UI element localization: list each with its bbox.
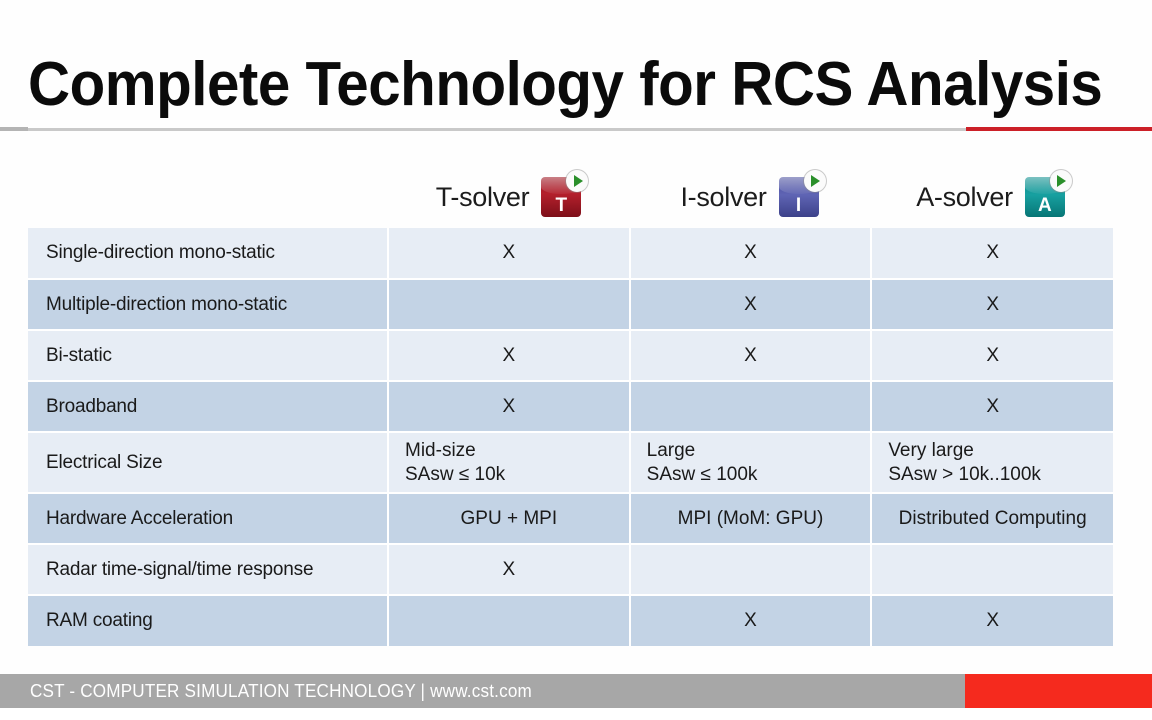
cell-i-solver: X [630, 279, 872, 330]
cell-t-solver: X [388, 330, 630, 381]
table-row: Single-direction mono-static X X X [28, 228, 1113, 279]
cell-line-1: Very large [888, 439, 1113, 463]
footer-bottom-margin [0, 708, 1152, 720]
cell-a-solver: X [871, 330, 1113, 381]
footer-text: CST - COMPUTER SIMULATION TECHNOLOGY | w… [30, 681, 532, 702]
cell-a-solver: Very large SAsw > 10k..100k [871, 432, 1113, 493]
play-triangle-icon [574, 175, 583, 187]
rule-segment-gray [28, 128, 966, 131]
cell-t-solver: X [388, 228, 630, 279]
cell-line-2: SAsw ≤ 10k [405, 463, 629, 487]
cell-t-solver: X [388, 544, 630, 595]
icon-letter: A [1025, 196, 1065, 216]
table-row: Radar time-signal/time response X [28, 544, 1113, 595]
table-row: Bi-static X X X [28, 330, 1113, 381]
cell-t-solver [388, 595, 630, 646]
cell-a-solver: X [871, 595, 1113, 646]
cell-t-solver: Mid-size SAsw ≤ 10k [388, 432, 630, 493]
solver-column-headers: T-solver T I-solver I A-solver A [28, 168, 1113, 226]
table-row: Multiple-direction mono-static X X [28, 279, 1113, 330]
title-underline-rule [0, 127, 1152, 131]
icon-letter: I [779, 196, 819, 216]
cell-i-solver: X [630, 228, 872, 279]
header-spacer [28, 168, 388, 226]
column-header-t-solver: T-solver T [388, 168, 629, 226]
cell-line-2: SAsw > 10k..100k [888, 463, 1113, 487]
t-solver-icon: T [541, 177, 581, 217]
column-header-a-solver: A-solver A [870, 168, 1111, 226]
solver-comparison-table: Single-direction mono-static X X X Multi… [28, 228, 1113, 646]
cell-i-solver: MPI (MoM: GPU) [630, 493, 872, 544]
table-row: Broadband X X [28, 381, 1113, 432]
cell-line-1: Large [647, 439, 871, 463]
rule-segment-gray-left [0, 127, 28, 131]
play-icon [566, 170, 588, 192]
cell-i-solver: X [630, 595, 872, 646]
footer-accent-block [965, 674, 1152, 708]
rule-segment-red [966, 127, 1152, 131]
slide-root: Complete Technology for RCS Analysis T-s… [0, 0, 1152, 720]
title-area: Complete Technology for RCS Analysis [28, 46, 1152, 126]
column-header-i-solver: I-solver I [629, 168, 870, 226]
play-icon [804, 170, 826, 192]
row-label: Bi-static [28, 330, 388, 381]
column-header-label: I-solver [680, 182, 766, 213]
row-label: Broadband [28, 381, 388, 432]
page-title: Complete Technology for RCS Analysis [28, 46, 1085, 124]
table-row: Hardware Acceleration GPU + MPI MPI (MoM… [28, 493, 1113, 544]
cell-a-solver: Distributed Computing [871, 493, 1113, 544]
cell-i-solver [630, 381, 872, 432]
cell-a-solver: X [871, 279, 1113, 330]
row-label: Electrical Size [28, 432, 388, 493]
row-label: Radar time-signal/time response [28, 544, 388, 595]
cell-line-1: Mid-size [405, 439, 629, 463]
cell-line-2: SAsw ≤ 100k [647, 463, 871, 487]
cell-t-solver: X [388, 381, 630, 432]
icon-letter: T [541, 196, 581, 216]
row-label: Single-direction mono-static [28, 228, 388, 279]
cell-i-solver: X [630, 330, 872, 381]
i-solver-icon: I [779, 177, 819, 217]
cell-i-solver [630, 544, 872, 595]
cell-t-solver [388, 279, 630, 330]
play-icon [1050, 170, 1072, 192]
cell-a-solver: X [871, 381, 1113, 432]
column-header-label: A-solver [916, 182, 1013, 213]
row-label: Hardware Acceleration [28, 493, 388, 544]
play-triangle-icon [1057, 175, 1066, 187]
table-row: RAM coating X X [28, 595, 1113, 646]
slide-footer: CST - COMPUTER SIMULATION TECHNOLOGY | w… [0, 674, 1152, 708]
cell-t-solver: GPU + MPI [388, 493, 630, 544]
a-solver-icon: A [1025, 177, 1065, 217]
row-label: Multiple-direction mono-static [28, 279, 388, 330]
cell-i-solver: Large SAsw ≤ 100k [630, 432, 872, 493]
row-label: RAM coating [28, 595, 388, 646]
play-triangle-icon [811, 175, 820, 187]
column-header-label: T-solver [436, 182, 530, 213]
cell-a-solver [871, 544, 1113, 595]
footer-bar: CST - COMPUTER SIMULATION TECHNOLOGY | w… [0, 674, 965, 708]
cell-a-solver: X [871, 228, 1113, 279]
table-row: Electrical Size Mid-size SAsw ≤ 10k Larg… [28, 432, 1113, 493]
